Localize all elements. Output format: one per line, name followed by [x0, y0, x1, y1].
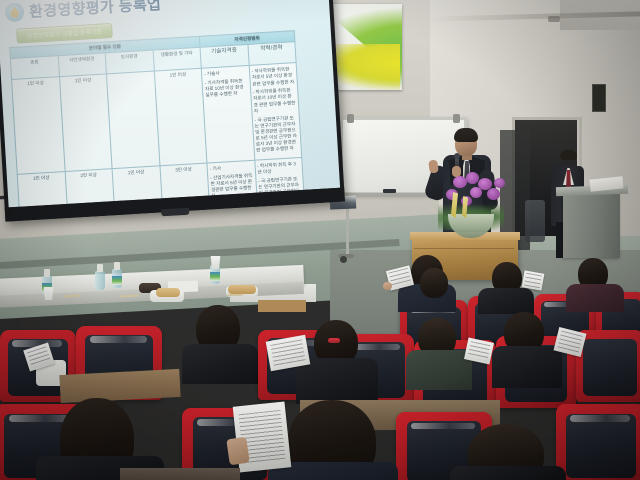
attendee-head: [420, 268, 448, 298]
orchid-bloom: [470, 187, 482, 198]
attendee-hand: [226, 437, 249, 466]
speaker-hair: [454, 128, 478, 142]
stage-chair: [525, 200, 545, 242]
handout-text-lines: [524, 273, 542, 289]
wall-mark: [548, 16, 560, 22]
floor-board: [59, 369, 180, 403]
seat-pad: [566, 414, 636, 478]
slide-header: 환경영향평가 등록업: [5, 0, 322, 23]
cell-living: 1인 이상: [154, 68, 207, 166]
snack-food: [156, 288, 180, 297]
whiteboard-caster-left-icon: [340, 256, 347, 263]
slide-title: 환경영향평가 등록업: [28, 0, 161, 22]
cell-experience: - 석사학위를 취득한 자로서 5년 이상 환경 관련 업무를 수행한 자 - …: [249, 63, 302, 161]
assistant-hair: [560, 150, 577, 160]
seat[interactable]: [576, 330, 640, 402]
seal-emblem-icon: [5, 2, 25, 22]
water-bottle: [95, 264, 105, 290]
wall-fixture-icon: [592, 84, 606, 112]
cell-total: 1인 이상: [17, 172, 68, 208]
qualification-line: - 기사: [210, 164, 253, 173]
cell-nature: 1인 이상: [59, 74, 112, 172]
cell-qualification: - 기술사 - 기사자격을 취득한 자로 10년 이상 환경실무를 수행한 자: [201, 66, 254, 164]
attendee-shoulders: [296, 358, 378, 404]
floor-aisle: [120, 468, 240, 480]
seat-highlight: [90, 336, 147, 343]
qualification-line: - 기사자격을 취득한 자로 10년 이상 환경실무를 수행한 자: [204, 78, 248, 99]
presentation-slide: 환경영향평가 등록업 환경영향평가 대행업 등록기준 분야별 필요 인원 자격인…: [0, 0, 340, 207]
seat-highlight: [9, 415, 70, 422]
table-row: 1인 이상 1인 이상 1인 이상 - 기술사 - 기사자격을 취득한 자로 1…: [12, 63, 302, 175]
seat-highlight: [570, 415, 629, 422]
qualification-line: - 기술사: [204, 69, 247, 78]
table-leg: [258, 300, 306, 312]
projection-screen: 환경영향평가 등록업 환경영향평가 대행업 등록기준 분야별 필요 인원 자격인…: [0, 0, 345, 222]
screen-surface: 환경영향평가 등록업 환경영향평가 대행업 등록기준 분야별 필요 인원 자격인…: [0, 0, 340, 207]
slide-subtitle-text: 환경영향평가 대행업 등록기준: [27, 27, 103, 40]
orchid-bloom: [494, 178, 505, 188]
seat-pad: [583, 339, 636, 397]
attendee-shoulders: [478, 288, 534, 314]
attendee-shoulders: [450, 466, 566, 480]
speaker-hand-raised: [428, 159, 439, 173]
col-nature-ecology: 자연생태환경: [58, 53, 107, 77]
slide-table: 분야별 필요 인원 자격인정범위 총원 자연생태환경 토지환경 생활환경 및 기…: [9, 30, 305, 207]
handout-text-lines: [389, 268, 411, 287]
orchid-bloom: [453, 176, 467, 188]
bottle-label: [210, 272, 220, 281]
bottle-cap: [44, 269, 50, 277]
whiteboard-marker-icon: [383, 189, 396, 193]
hair-tie: [328, 338, 340, 343]
handout: [522, 270, 545, 290]
snack-food: [228, 285, 256, 294]
water-bottle: [112, 262, 122, 288]
col-education-career: 학력/경력: [247, 42, 296, 66]
seat-highlight: [411, 423, 474, 430]
experience-line: - 학사학위를 취득한 자로서 10년 이상 환경 관련 업무를 수행한 자: [253, 87, 297, 114]
lectern: [563, 192, 620, 258]
experience-line: - 국·공립연구기관 또는 연구기관의 근무자 및 환경관련 공무원으로 5년 …: [254, 115, 299, 155]
bottle-body: [95, 271, 105, 290]
col-technical-cert: 기술자격증: [200, 45, 249, 69]
handout-text-lines: [467, 341, 491, 362]
attendee-shoulders: [492, 346, 562, 388]
lecture-hall-photo: 수회 구전학도문 학급 환경공학과: [0, 0, 640, 480]
handout-text-lines: [557, 330, 583, 353]
bottle-label: [112, 276, 122, 285]
attendee-shoulders: [182, 344, 258, 384]
orchid-bloom: [466, 172, 479, 184]
attendee-shoulders: [406, 350, 472, 390]
whiteboard-clip-left-icon: [347, 114, 354, 123]
bottle-cap: [114, 262, 120, 270]
experience-line: - 학사학위 취득 후 3년 이상: [257, 161, 300, 176]
podium-seam: [414, 248, 514, 249]
orchid-bloom: [487, 188, 500, 200]
seat[interactable]: [556, 404, 640, 480]
experience-line: - 석사학위를 취득한 자로서 5년 이상 환경 관련 업무를 수행한 자: [251, 66, 295, 87]
handout-text-lines: [27, 346, 52, 368]
col-total: 총원: [10, 56, 59, 80]
slide-subtitle-pill: 환경영향평가 대행업 등록기준: [16, 23, 113, 44]
col-living-env-etc: 생활환경 및 기타: [153, 47, 202, 71]
cell-land: [106, 71, 159, 169]
attendee-shoulders: [566, 284, 624, 312]
bottle-cap: [97, 264, 103, 272]
cell-total: 1인 이상: [12, 77, 65, 175]
handout-text-lines: [270, 339, 305, 367]
whiteboard-clip-right-icon: [453, 114, 460, 123]
col-land-env: 토지환경: [105, 50, 154, 74]
attendee-hand: [383, 282, 392, 290]
